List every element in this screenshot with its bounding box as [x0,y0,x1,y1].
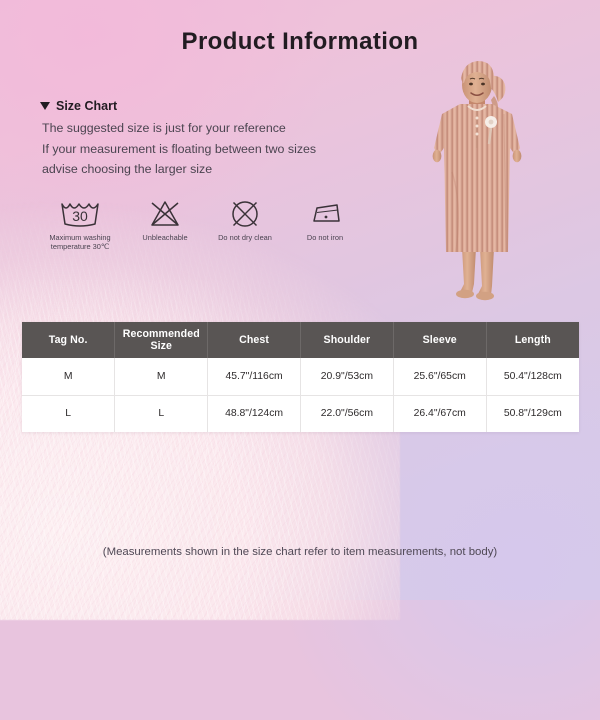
wash-tub-30-icon: 30 [58,196,102,230]
size-table-container: Tag No. Recommended Size Chest Shoulder … [22,322,579,432]
care-symbol-label: Do not iron [307,233,343,242]
cell-sleeve: 25.6"/65cm [393,358,486,395]
description-line-1: The suggested size is just for your refe… [42,118,316,139]
cell-length: 50.4"/128cm [486,358,579,395]
cell-chest: 48.8"/124cm [208,395,301,432]
description-line-3: advise choosing the larger size [42,159,316,180]
wash-temp-value: 30 [72,208,88,224]
column-header-tag-no: Tag No. [22,322,115,358]
care-symbol-do-not-dry-clean: Do not dry clean [214,196,276,242]
column-header-shoulder: Shoulder [300,322,393,358]
measurement-footnote: (Measurements shown in the size chart re… [0,546,600,558]
table-row: L L 48.8"/124cm 22.0"/56cm 26.4"/67cm 50… [22,395,579,432]
size-chart-heading-label: Size Chart [56,99,117,113]
care-symbols-row: 30 Maximum washing temperature 30℃ Unble… [44,196,356,252]
table-row: M M 45.7"/116cm 20.9"/53cm 25.6"/65cm 50… [22,358,579,395]
care-symbol-label: Maximum washing temperature 30℃ [49,233,110,252]
do-not-iron-icon [306,196,344,230]
cell-tag-no: M [22,358,115,395]
triangle-down-icon [40,102,50,110]
column-header-chest: Chest [208,322,301,358]
column-header-recommended-size: Recommended Size [115,322,208,358]
care-symbol-label: Unbleachable [142,233,187,242]
cell-tag-no: L [22,395,115,432]
do-not-bleach-icon [148,196,182,230]
cell-recommended-size: L [115,395,208,432]
size-table-header: Tag No. Recommended Size Chest Shoulder … [22,322,579,358]
product-photo-illustration [392,52,562,304]
column-header-length: Length [486,322,579,358]
size-chart-heading[interactable]: Size Chart [40,99,117,113]
care-symbol-label: Do not dry clean [218,233,272,242]
cell-sleeve: 26.4"/67cm [393,395,486,432]
cell-chest: 45.7"/116cm [208,358,301,395]
description-line-2: If your measurement is floating between … [42,139,316,160]
cell-shoulder: 22.0"/56cm [300,395,393,432]
care-symbol-max-wash-temp: 30 Maximum washing temperature 30℃ [44,196,116,252]
size-table-body: M M 45.7"/116cm 20.9"/53cm 25.6"/65cm 50… [22,358,579,432]
size-chart-description: The suggested size is just for your refe… [42,118,316,180]
table-header-row: Tag No. Recommended Size Chest Shoulder … [22,322,579,358]
care-symbol-unbleachable: Unbleachable [134,196,196,242]
product-photo [392,52,562,304]
size-table: Tag No. Recommended Size Chest Shoulder … [22,322,579,432]
cell-shoulder: 20.9"/53cm [300,358,393,395]
page-title: Product Information [0,28,600,56]
do-not-dry-clean-icon [228,196,262,230]
cell-length: 50.8"/129cm [486,395,579,432]
cell-recommended-size: M [115,358,208,395]
column-header-sleeve: Sleeve [393,322,486,358]
care-symbol-do-not-iron: Do not iron [294,196,356,242]
